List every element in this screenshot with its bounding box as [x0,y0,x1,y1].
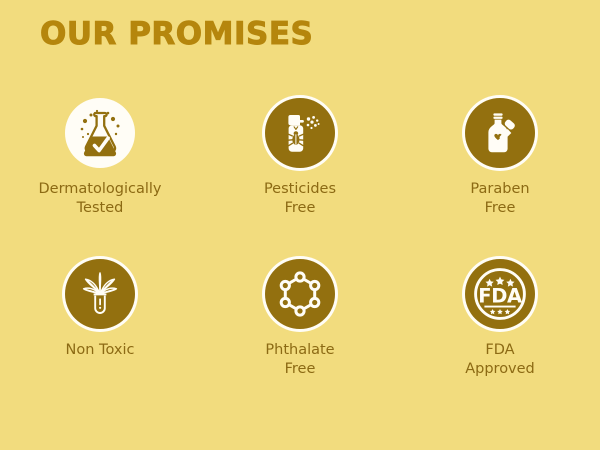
stars-bottom [490,309,510,314]
flask-check-icon [72,105,128,161]
page-title: OUR PROMISES [40,16,313,53]
promise-item-fda-approved: FDA FDA Approved [400,259,600,420]
badge-paraben-free [465,98,535,168]
leaf-test-tube-icon [74,268,126,320]
badge-dermatologically-tested [65,98,135,168]
promises-grid: Dermatologically Tested [0,98,600,420]
spray-bottle-bug-icon [274,107,326,159]
promise-item-phthalate-free: Phthalate Free [200,259,400,420]
promise-label: Paraben Free [470,180,529,217]
promise-item-paraben-free: Paraben Free [400,98,600,259]
promise-label: Phthalate Free [265,341,334,378]
badge-fda-approved: FDA [465,259,535,329]
promise-label: Pesticides Free [264,180,336,217]
promise-label: Dermatologically Tested [39,180,162,217]
fda-seal-text: FDA [478,285,522,308]
promise-label: Non Toxic [66,341,135,360]
promise-item-dermatologically-tested: Dermatologically Tested [0,98,200,259]
promise-item-pesticides-free: Pesticides Free [200,98,400,259]
promise-item-non-toxic: Non Toxic [0,259,200,420]
hexagon-molecule-icon [275,269,325,319]
bottle-dropper-heart-icon [474,107,526,159]
badge-non-toxic [65,259,135,329]
badge-phthalate-free [265,259,335,329]
fda-seal-icon: FDA [471,265,529,323]
our-promises-banner: OUR PROMISES Dermatological [0,0,600,450]
promise-label: FDA Approved [465,341,535,378]
badge-pesticides-free [265,98,335,168]
